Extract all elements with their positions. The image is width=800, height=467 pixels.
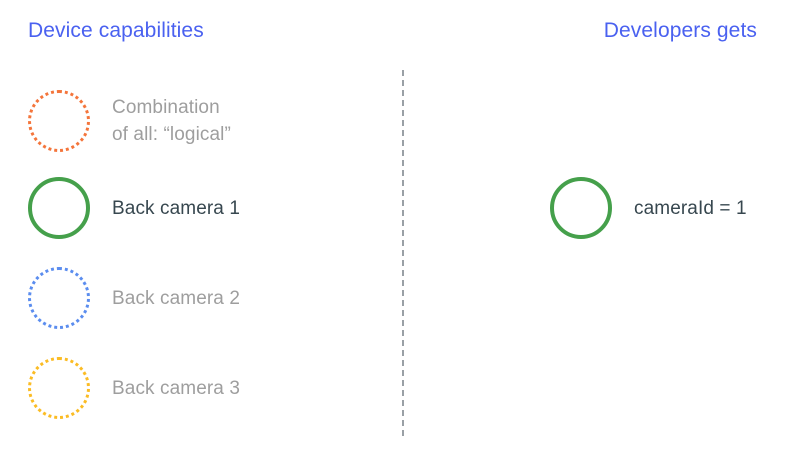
capability-row-back-camera-3: Back camera 3 — [28, 357, 240, 419]
capability-row-back-camera-1: Back camera 1 — [28, 177, 240, 239]
result-label-camera-id: cameraId = 1 — [634, 195, 747, 222]
capability-label-back-camera-1: Back camera 1 — [112, 195, 240, 222]
solid-circle-icon — [28, 177, 90, 239]
result-row-camera-id: cameraId = 1 — [550, 177, 747, 239]
column-header-device-capabilities: Device capabilities — [28, 19, 204, 43]
capability-label-back-camera-2: Back camera 2 — [112, 285, 240, 312]
dotted-circle-icon — [28, 90, 90, 152]
dotted-circle-icon — [28, 267, 90, 329]
capability-row-logical: Combination of all: “logical” — [28, 90, 231, 152]
capability-label-logical: Combination of all: “logical” — [112, 94, 231, 148]
column-header-developers-gets: Developers gets — [604, 19, 757, 43]
dotted-circle-icon — [28, 357, 90, 419]
capability-row-back-camera-2: Back camera 2 — [28, 267, 240, 329]
vertical-dashed-divider — [402, 70, 404, 436]
solid-circle-icon — [550, 177, 612, 239]
camera-capabilities-diagram: Device capabilities Developers gets Comb… — [0, 0, 800, 467]
capability-label-back-camera-3: Back camera 3 — [112, 375, 240, 402]
